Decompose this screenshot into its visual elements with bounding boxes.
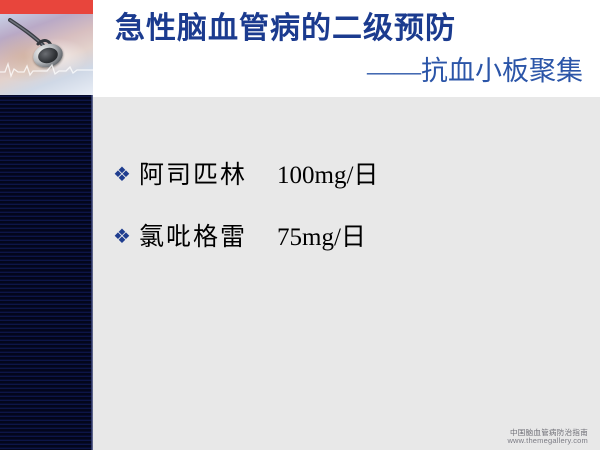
drug-name: 阿司匹林 xyxy=(139,155,247,191)
title-band: 急性脑血管病的二级预防 ——抗血小板聚集 xyxy=(93,0,600,97)
list-item: ❖ 氯吡格雷 75mg/日 xyxy=(113,217,583,253)
list-item: ❖ 阿司匹林 100mg/日 xyxy=(113,155,583,191)
footer-url[interactable]: www.themegallery.com xyxy=(507,437,588,446)
diamond-bullet-icon: ❖ xyxy=(113,165,139,185)
red-accent-bar xyxy=(0,0,93,14)
ecg-waveform-icon xyxy=(0,60,93,78)
drug-name: 氯吡格雷 xyxy=(139,217,247,253)
sidebar-navy-panel xyxy=(0,95,93,450)
slide-title: 急性脑血管病的二级预防 xyxy=(115,14,456,44)
bullet-list: ❖ 阿司匹林 100mg/日 ❖ 氯吡格雷 75mg/日 xyxy=(113,155,583,279)
slide-body: ❖ 阿司匹林 100mg/日 ❖ 氯吡格雷 75mg/日 中国脑血管病防治指南 … xyxy=(93,97,600,450)
stethoscope-photo xyxy=(0,14,93,95)
diamond-bullet-icon: ❖ xyxy=(113,227,139,247)
footer: 中国脑血管病防治指南 www.themegallery.com xyxy=(507,429,588,446)
drug-dose: 75mg/日 xyxy=(277,217,366,253)
slide-canvas: 急性脑血管病的二级预防 ——抗血小板聚集 ❖ 阿司匹林 100mg/日 ❖ 氯吡… xyxy=(0,0,600,450)
slide-subtitle: ——抗血小板聚集 xyxy=(93,58,583,85)
drug-dose: 100mg/日 xyxy=(277,155,378,191)
